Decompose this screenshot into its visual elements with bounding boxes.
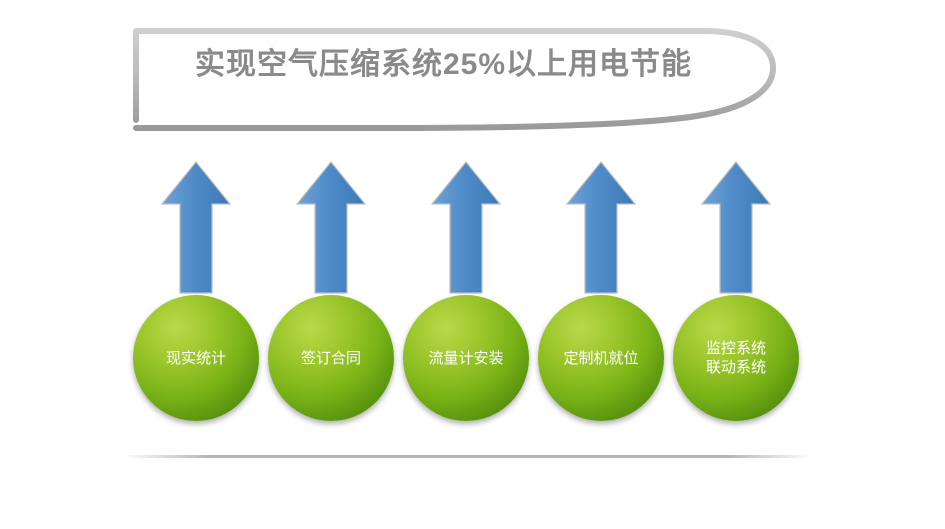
up-arrow-icon — [160, 160, 232, 295]
up-arrow-icon — [700, 160, 772, 295]
step-label-2: 签订合同 — [276, 349, 386, 368]
process-step-3[interactable]: 流量计安装 — [396, 160, 536, 450]
step-bubble-3[interactable]: 流量计安装 — [403, 295, 529, 421]
step-bubble-1[interactable]: 现实统计 — [133, 295, 259, 421]
up-arrow-icon — [430, 160, 502, 295]
step-bubble-2[interactable]: 签订合同 — [268, 295, 394, 421]
step-bubble-4[interactable]: 定制机就位 — [538, 295, 664, 421]
page-title: 实现空气压缩系统25%以上用电节能 — [133, 28, 754, 94]
step-label-1: 现实统计 — [141, 349, 251, 368]
step-label-4: 定制机就位 — [546, 349, 656, 368]
up-arrow-icon — [565, 160, 637, 295]
process-step-5[interactable]: 监控系统 联动系统 — [666, 160, 806, 450]
title-banner: 实现空气压缩系统25%以上用电节能 — [133, 28, 778, 133]
process-step-2[interactable]: 签订合同 — [261, 160, 401, 450]
baseline-divider — [128, 455, 808, 458]
process-step-1[interactable]: 现实统计 — [126, 160, 266, 450]
step-label-5: 监控系统 联动系统 — [681, 339, 791, 377]
step-bubble-5[interactable]: 监控系统 联动系统 — [673, 295, 799, 421]
process-step-4[interactable]: 定制机就位 — [531, 160, 671, 450]
process-steps-row: 现实统计 签订合同 流量计安装 定制机就位 — [0, 160, 945, 460]
up-arrow-icon — [295, 160, 367, 295]
step-label-3: 流量计安装 — [411, 349, 521, 368]
slide-canvas: 实现空气压缩系统25%以上用电节能 现实统计 — [0, 0, 945, 529]
